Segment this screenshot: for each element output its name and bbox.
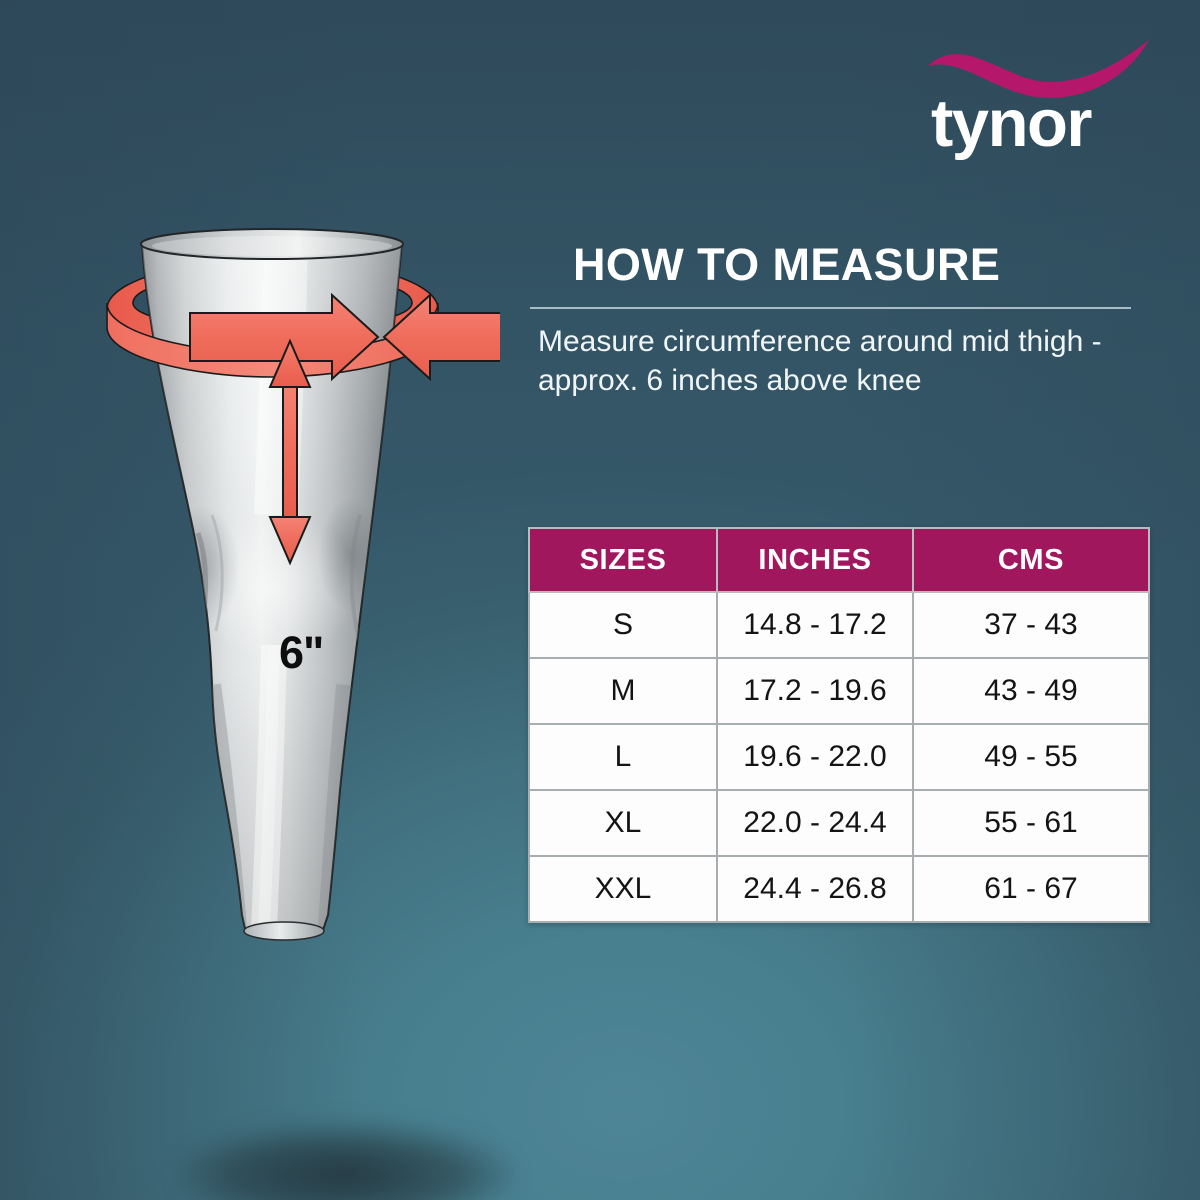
cell-size: L xyxy=(529,724,717,790)
cell-size: XL xyxy=(529,790,717,856)
column-header-inches: INCHES xyxy=(717,528,913,592)
six-inch-label: 6" xyxy=(279,627,323,679)
cell-cms: 37 - 43 xyxy=(913,592,1149,658)
table-header: SIZES INCHES CMS xyxy=(529,528,1149,592)
cell-inches: 17.2 - 19.6 xyxy=(717,658,913,724)
leg-diagram-svg xyxy=(60,215,500,1015)
cell-size: S xyxy=(529,592,717,658)
cell-size: XXL xyxy=(529,856,717,922)
table-row: L 19.6 - 22.0 49 - 55 xyxy=(529,724,1149,790)
measure-instructions: Measure circumference around mid thigh -… xyxy=(538,322,1148,400)
cell-inches: 19.6 - 22.0 xyxy=(717,724,913,790)
cell-cms: 43 - 49 xyxy=(913,658,1149,724)
column-header-cms: CMS xyxy=(913,528,1149,592)
table-row: S 14.8 - 17.2 37 - 43 xyxy=(529,592,1149,658)
cell-size: M xyxy=(529,658,717,724)
brand-logo[interactable]: tynor xyxy=(925,38,1155,158)
table-body: S 14.8 - 17.2 37 - 43 M 17.2 - 19.6 43 -… xyxy=(529,592,1149,922)
arrow-left-icon xyxy=(384,295,500,379)
cell-inches: 24.4 - 26.8 xyxy=(717,856,913,922)
table-row: M 17.2 - 19.6 43 - 49 xyxy=(529,658,1149,724)
cell-cms: 55 - 61 xyxy=(913,790,1149,856)
leg-bottom-cross-section xyxy=(244,922,324,940)
table-header-row: SIZES INCHES CMS xyxy=(529,528,1149,592)
size-chart-page: 6" tynor HOW TO MEASURE Measure circumfe… xyxy=(0,0,1200,1200)
table-row: XXL 24.4 - 26.8 61 - 67 xyxy=(529,856,1149,922)
page-title: HOW TO MEASURE xyxy=(573,239,1000,291)
cell-cms: 61 - 67 xyxy=(913,856,1149,922)
cell-inches: 22.0 - 24.4 xyxy=(717,790,913,856)
table-row: XL 22.0 - 24.4 55 - 61 xyxy=(529,790,1149,856)
cell-inches: 14.8 - 17.2 xyxy=(717,592,913,658)
title-divider xyxy=(530,307,1131,309)
size-chart-table: SIZES INCHES CMS S 14.8 - 17.2 37 - 43 M… xyxy=(528,527,1150,923)
column-header-sizes: SIZES xyxy=(529,528,717,592)
cell-cms: 49 - 55 xyxy=(913,724,1149,790)
leg-illustration: 6" xyxy=(60,215,500,1015)
brand-wordmark: tynor xyxy=(931,90,1091,157)
